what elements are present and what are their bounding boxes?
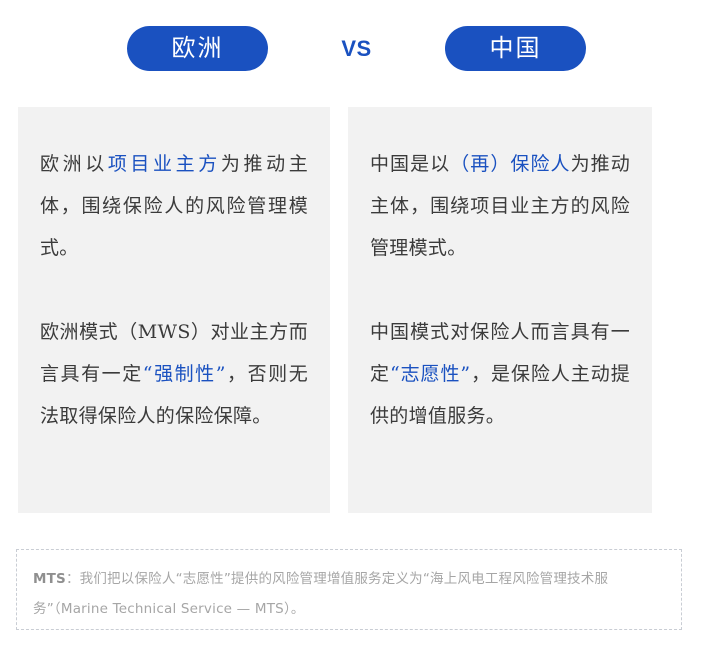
panel-china: 中国是以（再）保险人为推动主体，围绕项目业主方的风险管理模式。中国模式对保险人而… xyxy=(348,107,652,513)
comparison-header: 欧洲 VS 中国 xyxy=(0,0,713,97)
highlighted-term: “强制性” xyxy=(143,363,226,385)
paragraph: 欧洲以项目业主方为推动主体，围绕保险人的风险管理模式。 xyxy=(40,143,308,269)
highlighted-term: （再）保险人 xyxy=(450,153,570,175)
panel-europe: 欧洲以项目业主方为推动主体，围绕保险人的风险管理模式。欧洲模式（MWS）对业主方… xyxy=(18,107,330,513)
vs-label: VS xyxy=(268,36,445,62)
highlighted-term: 项目业主方 xyxy=(108,153,221,175)
footnote-box: MTS：我们把以保险人“志愿性”提供的风险管理增值服务定义为“海上风电工程风险管… xyxy=(16,549,682,630)
paragraph: 中国是以（再）保险人为推动主体，围绕项目业主方的风险管理模式。 xyxy=(370,143,630,269)
pill-china[interactable]: 中国 xyxy=(445,26,586,71)
text-segment: 欧洲以 xyxy=(40,153,108,175)
highlighted-term: “志愿性” xyxy=(390,363,471,385)
comparison-panels: 欧洲以项目业主方为推动主体，围绕保险人的风险管理模式。欧洲模式（MWS）对业主方… xyxy=(18,107,652,513)
footnote-text: ：我们把以保险人“志愿性”提供的风险管理增值服务定义为“海上风电工程风险管理技术… xyxy=(33,571,608,617)
pill-europe[interactable]: 欧洲 xyxy=(127,26,268,71)
text-segment: 中国是以 xyxy=(370,153,450,175)
paragraph: 中国模式对保险人而言具有一定“志愿性”，是保险人主动提供的增值服务。 xyxy=(370,311,630,437)
paragraph: 欧洲模式（MWS）对业主方而言具有一定“强制性”，否则无法取得保险人的保险保障。 xyxy=(40,311,308,437)
footnote-label: MTS xyxy=(33,571,66,587)
